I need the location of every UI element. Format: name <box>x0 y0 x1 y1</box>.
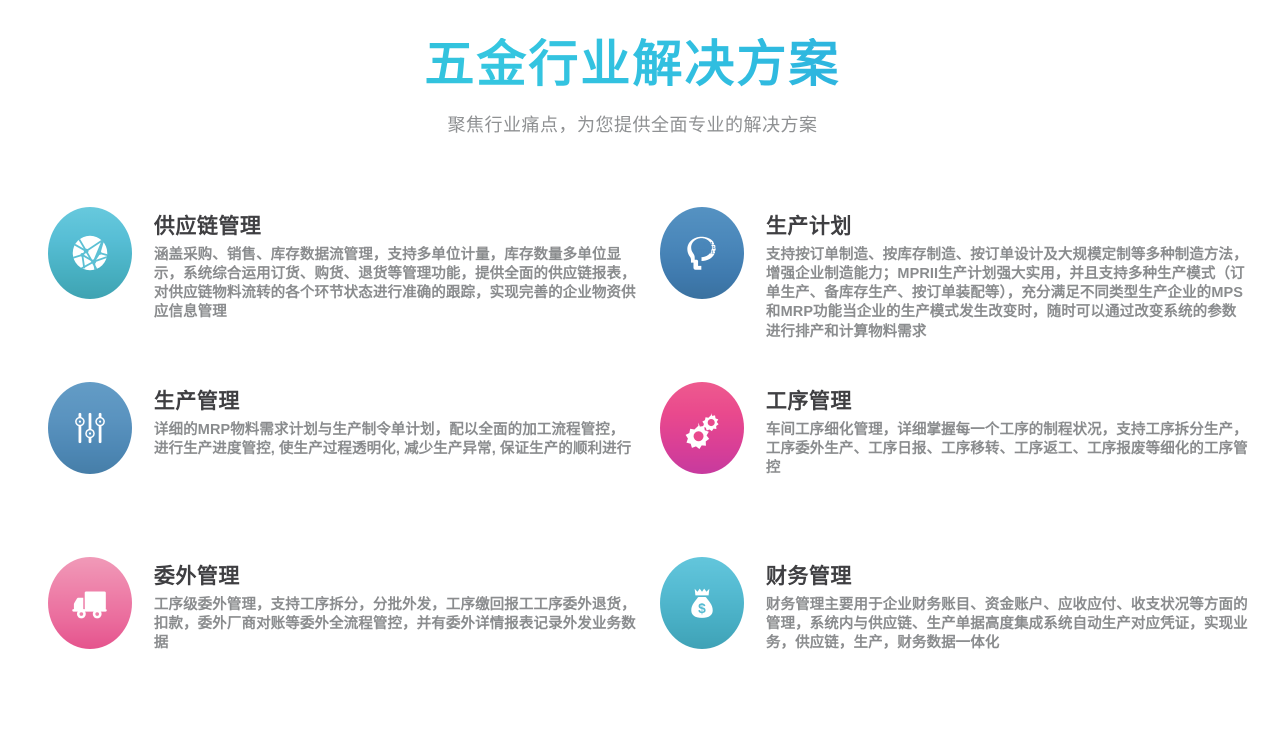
svg-text:10101011: 10101011 <box>696 250 717 255</box>
page-subtitle: 聚焦行业痛点，为您提供全面专业的解决方案 <box>0 111 1265 137</box>
feature-title: 供应链管理 <box>154 215 636 238</box>
feature-title: 委外管理 <box>154 565 636 588</box>
feature-description: 车间工序细化管理，详细掌握每一个工序的制程状况，支持工序拆分生产，工序委外生产、… <box>766 421 1248 478</box>
feature-description: 详细的MRP物料需求计划与生产制令单计划，配以全面的加工流程管控，进行生产进度管… <box>154 421 636 459</box>
feature-grid: 供应链管理 涵盖采购、销售、库存数据流管理，支持多单位计量，库存数量多单位显示，… <box>0 205 1265 730</box>
feature-card-finance[interactable]: $ 财务管理 财务管理主要用于企业财务账目、资金账户、应收应付、收支状况等方面的… <box>660 555 1265 730</box>
feature-description: 支持按订单制造、按库存制造、按订单设计及大规模定制等多种制造方法，增强企业制造能… <box>766 246 1248 342</box>
feature-text-process-mgmt: 工序管理 车间工序细化管理，详细掌握每一个工序的制程状况，支持工序拆分生产，工序… <box>766 380 1248 478</box>
network-globe-icon <box>48 207 132 299</box>
sliders-equalizer-icon <box>48 382 132 474</box>
feature-title: 生产管理 <box>154 390 636 413</box>
feature-text-production-mgmt: 生产管理 详细的MRP物料需求计划与生产制令单计划，配以全面的加工流程管控，进行… <box>154 380 636 459</box>
page-header: 五金行业解决方案 聚焦行业痛点，为您提供全面专业的解决方案 <box>0 0 1265 137</box>
feature-text-finance: 财务管理 财务管理主要用于企业财务账目、资金账户、应收应付、收支状况等方面的管理… <box>766 555 1248 653</box>
feature-description: 财务管理主要用于企业财务账目、资金账户、应收应付、收支状况等方面的管理，系统内与… <box>766 596 1248 653</box>
feature-title: 生产计划 <box>766 215 1248 238</box>
delivery-truck-icon <box>48 557 132 649</box>
feature-description: 涵盖采购、销售、库存数据流管理，支持多单位计量，库存数量多单位显示，系统综合运用… <box>154 246 636 323</box>
feature-card-outsourcing[interactable]: 委外管理 工序级委外管理，支持工序拆分，分批外发，工序缴回报工工序委外退货，扣款… <box>48 555 660 730</box>
feature-text-outsourcing: 委外管理 工序级委外管理，支持工序拆分，分批外发，工序缴回报工工序委外退货，扣款… <box>154 555 636 653</box>
feature-card-production-plan[interactable]: 010101101 011100010 10101011 生产计划 支持按订单制… <box>660 205 1265 380</box>
feature-text-supply-chain: 供应链管理 涵盖采购、销售、库存数据流管理，支持多单位计量，库存数量多单位显示，… <box>154 205 636 323</box>
feature-text-production-plan: 生产计划 支持按订单制造、按库存制造、按订单设计及大规模定制等多种制造方法，增强… <box>766 205 1248 342</box>
feature-title: 财务管理 <box>766 565 1248 588</box>
gears-cog-icon <box>660 382 744 474</box>
brain-head-binary-icon: 010101101 011100010 10101011 <box>660 207 744 299</box>
feature-card-process-mgmt[interactable]: 工序管理 车间工序细化管理，详细掌握每一个工序的制程状况，支持工序拆分生产，工序… <box>660 380 1265 555</box>
page-title: 五金行业解决方案 <box>0 38 1265 91</box>
svg-text:$: $ <box>698 601 706 616</box>
feature-title: 工序管理 <box>766 390 1248 413</box>
feature-description: 工序级委外管理，支持工序拆分，分批外发，工序缴回报工工序委外退货，扣款，委外厂商… <box>154 596 636 653</box>
feature-card-production-mgmt[interactable]: 生产管理 详细的MRP物料需求计划与生产制令单计划，配以全面的加工流程管控，进行… <box>48 380 660 555</box>
feature-card-supply-chain[interactable]: 供应链管理 涵盖采购、销售、库存数据流管理，支持多单位计量，库存数量多单位显示，… <box>48 205 660 380</box>
money-bag-dollar-icon: $ <box>660 557 744 649</box>
